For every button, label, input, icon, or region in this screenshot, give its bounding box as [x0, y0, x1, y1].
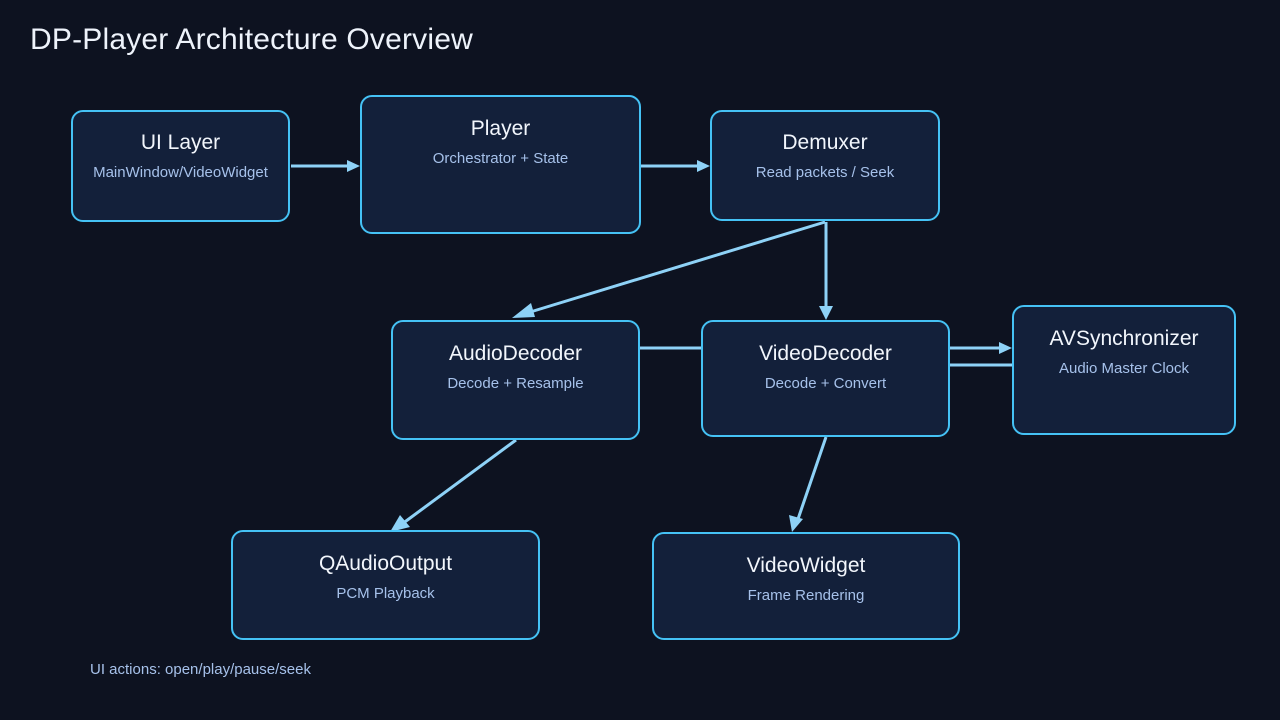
node-player-subtitle: Orchestrator + State — [433, 149, 568, 169]
node-videodecoder-inner: VideoDecoder Decode + Convert — [703, 322, 948, 394]
edge-ui-layer-to-player — [291, 160, 360, 172]
node-player-inner: Player Orchestrator + State — [362, 97, 639, 169]
node-videodecoder[interactable]: VideoDecoder Decode + Convert — [701, 320, 950, 437]
node-audiodecoder-subtitle: Decode + Resample — [447, 374, 583, 394]
node-videowidget[interactable]: VideoWidget Frame Rendering — [652, 532, 960, 640]
node-videodecoder-subtitle: Decode + Convert — [765, 374, 886, 394]
node-qaudiooutput-inner: QAudioOutput PCM Playback — [233, 532, 538, 604]
node-demuxer-inner: Demuxer Read packets / Seek — [712, 112, 938, 183]
node-player-title: Player — [471, 116, 531, 142]
node-demuxer-subtitle: Read packets / Seek — [756, 163, 894, 183]
edge-audiodecoder-to-qaudiooutput — [390, 440, 516, 532]
node-player[interactable]: Player Orchestrator + State — [360, 95, 641, 234]
node-qaudiooutput-subtitle: PCM Playback — [336, 584, 434, 604]
node-ui-layer[interactable]: UI Layer MainWindow/VideoWidget — [71, 110, 290, 222]
node-audiodecoder-title: AudioDecoder — [449, 341, 582, 367]
node-videodecoder-title: VideoDecoder — [759, 341, 892, 367]
node-videowidget-title: VideoWidget — [747, 553, 866, 579]
node-avsynchronizer-subtitle: Audio Master Clock — [1059, 359, 1189, 379]
edge-demuxer-to-audiodecoder — [512, 222, 825, 318]
node-avsynchronizer-inner: AVSynchronizer Audio Master Clock — [1014, 307, 1234, 379]
page-title: DP-Player Architecture Overview — [30, 20, 473, 60]
node-ui-layer-inner: UI Layer MainWindow/VideoWidget — [73, 112, 288, 183]
node-videowidget-subtitle: Frame Rendering — [748, 586, 865, 606]
node-qaudiooutput-title: QAudioOutput — [319, 551, 452, 577]
diagram-canvas: DP-Player Architecture Overview — [0, 0, 1280, 720]
node-avsynchronizer[interactable]: AVSynchronizer Audio Master Clock — [1012, 305, 1236, 435]
edge-videodecoder-to-videowidget — [789, 437, 826, 532]
node-demuxer[interactable]: Demuxer Read packets / Seek — [710, 110, 940, 221]
node-ui-layer-subtitle: MainWindow/VideoWidget — [93, 163, 268, 183]
footer-note: UI actions: open/play/pause/seek — [90, 660, 311, 680]
node-demuxer-title: Demuxer — [782, 130, 867, 156]
node-avsynchronizer-title: AVSynchronizer — [1049, 326, 1198, 352]
node-audiodecoder-inner: AudioDecoder Decode + Resample — [393, 322, 638, 394]
node-videowidget-inner: VideoWidget Frame Rendering — [654, 534, 958, 606]
node-qaudiooutput[interactable]: QAudioOutput PCM Playback — [231, 530, 540, 640]
node-ui-layer-title: UI Layer — [141, 130, 220, 156]
edge-demuxer-to-videodecoder — [819, 222, 833, 320]
node-audiodecoder[interactable]: AudioDecoder Decode + Resample — [391, 320, 640, 440]
edge-player-to-demuxer — [641, 160, 710, 172]
